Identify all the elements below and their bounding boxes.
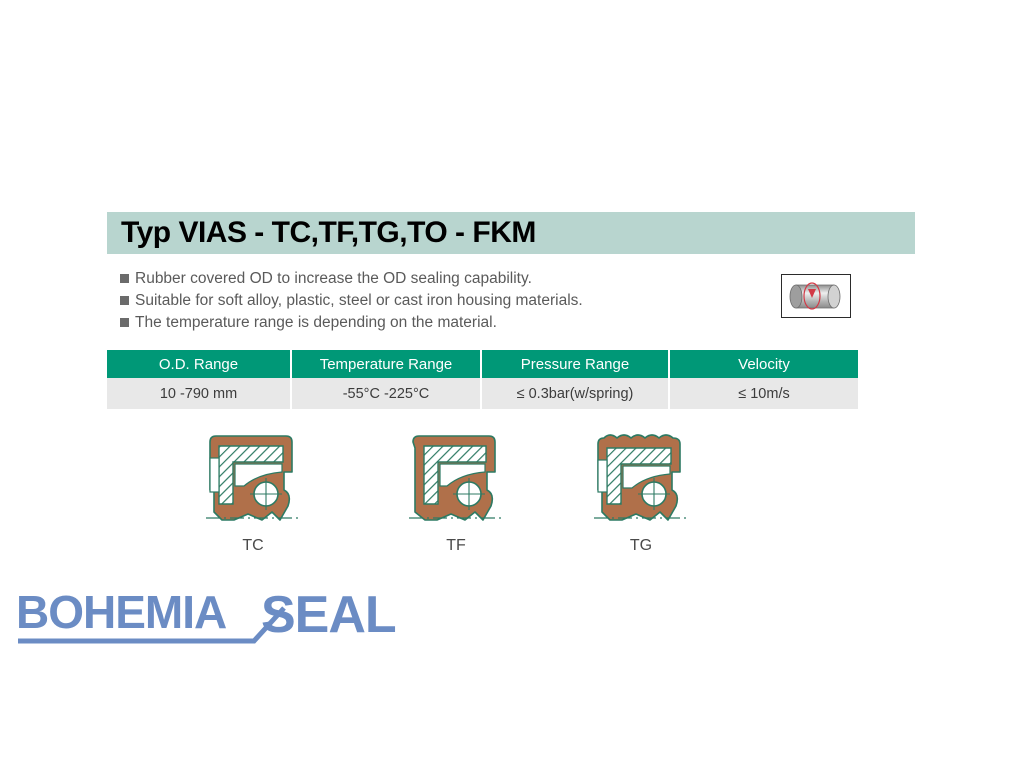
bohemia-seal-logo: BOHEMIA SEAL [16,586,396,648]
bullet-text: The temperature range is depending on th… [135,312,497,334]
cell-velocity: ≤ 10m/s [670,378,858,409]
feature-bullet-list: Rubber covered OD to increase the OD sea… [120,268,760,334]
cell-temperature-range: -55°C -225°C [292,378,482,409]
logo-word-bohemia: BOHEMIA [16,586,226,638]
tf-cross-section [391,428,521,533]
bullet-text: Rubber covered OD to increase the OD sea… [135,268,532,290]
column-header-pressure-range: Pressure Range [482,350,670,378]
company-logo: BOHEMIA SEAL [16,586,396,648]
tg-cross-section [576,428,706,533]
rotating-shaft-icon [781,274,851,318]
table-header-row: O.D. Range Temperature Range Pressure Ra… [107,350,858,378]
shaft-illustration [782,275,850,317]
specification-table: O.D. Range Temperature Range Pressure Ra… [107,350,858,409]
square-bullet-icon [120,296,129,305]
seal-label-tf: TF [391,537,521,555]
bullet-text: Suitable for soft alloy, plastic, steel … [135,290,583,312]
page-title: Typ VIAS - TC,TF,TG,TO - FKM [107,216,536,250]
tc-cross-section [188,428,318,533]
square-bullet-icon [120,318,129,327]
cell-pressure-range: ≤ 0.3bar(w/spring) [482,378,670,409]
square-bullet-icon [120,274,129,283]
table-row: 10 -790 mm -55°C -225°C ≤ 0.3bar(w/sprin… [107,378,858,409]
list-item: Suitable for soft alloy, plastic, steel … [120,290,760,312]
seal-label-tg: TG [576,537,706,555]
column-header-od-range: O.D. Range [107,350,292,378]
column-header-temperature-range: Temperature Range [292,350,482,378]
cell-od-range: 10 -790 mm [107,378,292,409]
seal-diagram-tg: TG [576,428,706,555]
title-banner: Typ VIAS - TC,TF,TG,TO - FKM [107,212,915,254]
seal-diagram-tf: TF [391,428,521,555]
logo-word-seal: SEAL [261,586,396,644]
slide-page: Typ VIAS - TC,TF,TG,TO - FKM Rubber cove… [0,0,1024,768]
list-item: Rubber covered OD to increase the OD sea… [120,268,760,290]
seal-diagram-tc: TC [188,428,318,555]
seal-diagram-row: TC TF [0,428,1024,568]
seal-label-tc: TC [188,537,318,555]
list-item: The temperature range is depending on th… [120,312,760,334]
column-header-velocity: Velocity [670,350,858,378]
